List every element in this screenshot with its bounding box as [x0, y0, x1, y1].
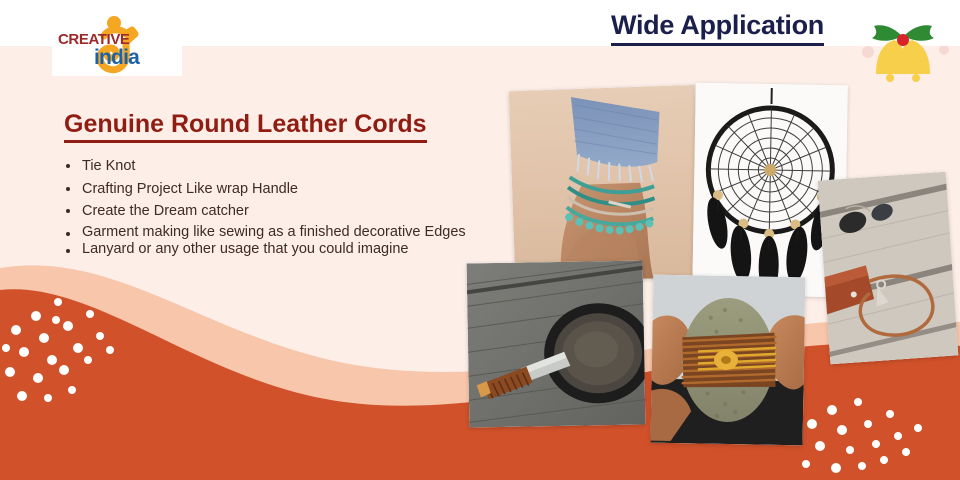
list-item: Crafting Project Like wrap Handle	[62, 179, 532, 200]
photo-stone-art	[651, 275, 806, 446]
list-item: Garment making like sewing as a finished…	[62, 224, 532, 242]
photo-wrapped-stone	[651, 275, 806, 446]
logo-word-india: india	[94, 46, 140, 69]
photo-lanyard	[818, 172, 959, 364]
logo-graphic: CREATIVE india	[52, 14, 182, 76]
feature-bullet-list: Tie Knot Crafting Project Like wrap Hand…	[62, 156, 532, 259]
photo-lanyard-art	[818, 172, 959, 364]
photo-anklet	[509, 85, 702, 283]
creative-india-logo: CREATIVE india	[52, 14, 182, 76]
slide-canvas: CREATIVE india Wide Application Genuine …	[0, 0, 960, 480]
bells-graphic	[846, 0, 958, 88]
christmas-bells-icon	[846, 0, 958, 88]
photo-pan-handle	[467, 260, 646, 427]
list-item: Create the Dream catcher	[62, 201, 532, 222]
page-title: Wide Application	[611, 10, 824, 46]
holly-berry	[897, 34, 909, 46]
bell-left-clapper	[886, 74, 894, 82]
page-heading: Genuine Round Leather Cords	[64, 110, 427, 143]
photo-anklet-art	[509, 85, 702, 283]
bell-right-clapper	[912, 74, 920, 82]
photo-pan-art	[467, 260, 646, 427]
list-item: Tie Knot	[62, 156, 532, 177]
list-item: Lanyard or any other usage that you coul…	[62, 241, 532, 259]
